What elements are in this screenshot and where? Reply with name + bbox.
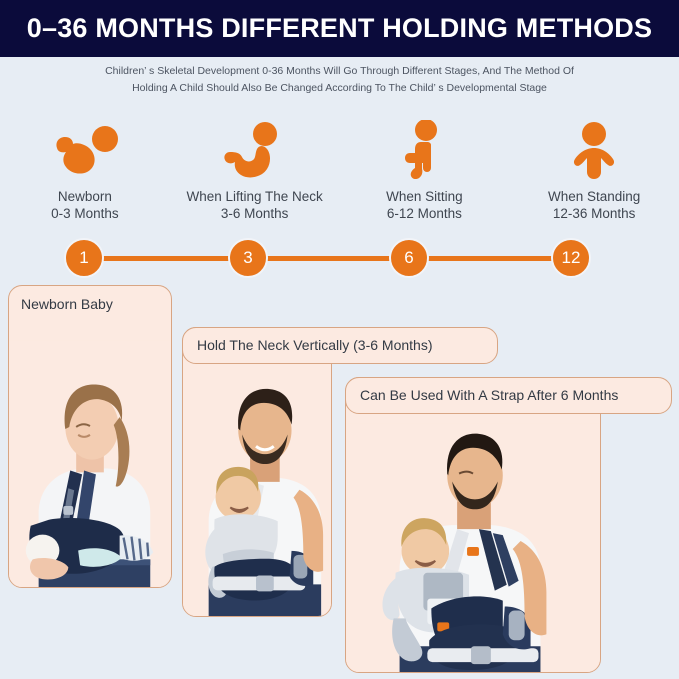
timeline-node-3[interactable]: 3 — [228, 238, 268, 278]
page-title: 0–36 MONTHS DIFFERENT HOLDING METHODS — [27, 13, 652, 44]
subtitle-line-1: Children’ s Skeletal Development 0-36 Mo… — [0, 63, 679, 80]
baby-sitting-icon — [399, 118, 449, 180]
card-title-hold-neck: Hold The Neck Vertically (3-6 Months) — [183, 328, 497, 362]
mother-holding-newborn-in-carrier-photo — [9, 337, 171, 587]
stage-sitting: When Sitting 6-12 Months — [340, 118, 510, 223]
timeline: 1 3 6 12 — [0, 238, 679, 278]
stage-age: 0-3 Months — [51, 205, 119, 222]
timeline-node-1[interactable]: 1 — [64, 238, 104, 278]
timeline-node-6[interactable]: 6 — [389, 238, 429, 278]
stage-name: When Lifting The Neck — [186, 189, 322, 204]
stage-lifting-neck: When Lifting The Neck 3-6 Months — [170, 118, 340, 223]
stage-row: Newborn 0-3 Months When Lifting The Neck… — [0, 118, 679, 223]
card-title-newborn: Newborn Baby — [9, 286, 171, 313]
stage-name: When Sitting — [386, 189, 463, 204]
stage-age: 6-12 Months — [386, 205, 463, 222]
card-title-strap-after-6-months: Can Be Used With A Strap After 6 Months — [346, 378, 671, 412]
stage-name: When Standing — [548, 189, 640, 204]
stage-age: 3-6 Months — [186, 205, 322, 222]
baby-lying-newborn-icon — [49, 118, 121, 180]
baby-standing-icon — [566, 118, 622, 180]
stage-name: Newborn — [58, 189, 112, 204]
subtitle: Children’ s Skeletal Development 0-36 Mo… — [0, 63, 679, 97]
stage-label-sitting: When Sitting 6-12 Months — [386, 188, 463, 222]
father-carrying-toddler-with-hip-seat-strap-photo — [346, 422, 600, 672]
stage-label-lifting-neck: When Lifting The Neck 3-6 Months — [186, 188, 322, 222]
photo-card-newborn[interactable]: Newborn Baby — [8, 285, 172, 588]
photo-card-hold-neck[interactable] — [182, 327, 332, 617]
card-banner-hold-neck: Hold The Neck Vertically (3-6 Months) — [182, 327, 498, 364]
baby-lifting-neck-icon — [222, 118, 288, 180]
stage-label-standing: When Standing 12-36 Months — [548, 188, 640, 222]
father-holding-toddler-upright-in-carrier-photo — [183, 370, 331, 616]
stage-standing: When Standing 12-36 Months — [509, 118, 679, 223]
timeline-track — [84, 256, 572, 261]
subtitle-line-2: Holding A Child Should Also Be Changed A… — [0, 80, 679, 97]
stage-newborn: Newborn 0-3 Months — [0, 118, 170, 223]
card-banner-strap-after-6-months: Can Be Used With A Strap After 6 Months — [345, 377, 672, 414]
timeline-node-12[interactable]: 12 — [551, 238, 591, 278]
photo-card-strap-after-6-months[interactable] — [345, 377, 601, 673]
stage-label-newborn: Newborn 0-3 Months — [51, 188, 119, 222]
header-bar: 0–36 MONTHS DIFFERENT HOLDING METHODS — [0, 0, 679, 57]
stage-age: 12-36 Months — [548, 205, 640, 222]
